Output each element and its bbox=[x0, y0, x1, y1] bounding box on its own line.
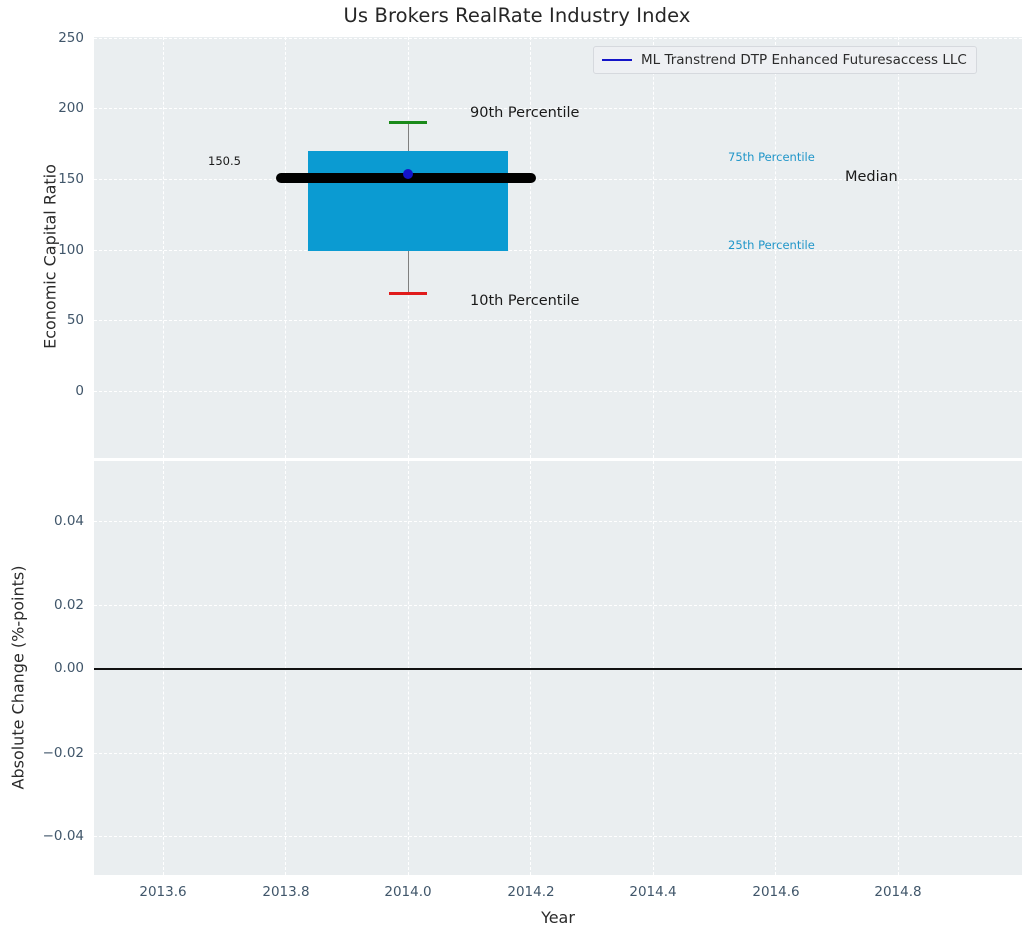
xtick-label-2013-6: 2013.6 bbox=[139, 884, 186, 900]
chart-figure: Us Brokers RealRate Industry Index 90th bbox=[0, 0, 1034, 942]
annotation-90th-percentile: 90th Percentile bbox=[470, 105, 579, 121]
legend: ML Transtrend DTP Enhanced Futuresaccess… bbox=[593, 46, 977, 74]
gridline-x-2014-8 bbox=[898, 37, 899, 458]
gridline-y-neg0p04 bbox=[94, 836, 1022, 837]
x-axis-label: Year bbox=[94, 908, 1022, 927]
gridline-x-2013-8 bbox=[285, 37, 286, 458]
xtick-label-2014-4: 2014.4 bbox=[629, 884, 676, 900]
whisker-cap-90th bbox=[389, 121, 427, 124]
top-plot-panel: 90th Percentile 75th Percentile Median 2… bbox=[94, 37, 1022, 458]
legend-line-swatch-icon bbox=[602, 59, 632, 61]
gridline-y-0p02 bbox=[94, 605, 1022, 606]
iqr-box bbox=[308, 151, 508, 251]
gridline-y-neg0p02 bbox=[94, 753, 1022, 754]
gridline-x-2014-2 bbox=[530, 37, 531, 458]
gridline-y-100 bbox=[94, 250, 1022, 251]
bottom-plot-panel bbox=[94, 461, 1022, 875]
annotation-25th-percentile: 25th Percentile bbox=[728, 238, 815, 252]
zero-reference-line bbox=[94, 668, 1022, 670]
xtick-label-2014-2: 2014.2 bbox=[507, 884, 554, 900]
page-title: Us Brokers RealRate Industry Index bbox=[0, 4, 1034, 27]
y-axis-label-top: Economic Capital Ratio bbox=[41, 57, 60, 457]
xtick-label-2014-6: 2014.6 bbox=[752, 884, 799, 900]
whisker-cap-10th bbox=[389, 292, 427, 295]
gridline-y-0p04 bbox=[94, 521, 1022, 522]
xtick-label-2014-8: 2014.8 bbox=[874, 884, 921, 900]
median-value-label: 150.5 bbox=[208, 154, 241, 168]
legend-entry-label: ML Transtrend DTP Enhanced Futuresaccess… bbox=[641, 52, 967, 68]
annotation-75th-percentile: 75th Percentile bbox=[728, 150, 815, 164]
gridline-y-250 bbox=[94, 38, 1022, 39]
gridline-x-2014-4 bbox=[653, 37, 654, 458]
annotation-median: Median bbox=[845, 169, 898, 185]
xtick-label-2014-0: 2014.0 bbox=[384, 884, 431, 900]
company-value-marker bbox=[403, 169, 413, 179]
y-axis-label-bottom: Absolute Change (%-points) bbox=[9, 478, 28, 878]
gridline-y-0 bbox=[94, 391, 1022, 392]
xtick-label-2013-8: 2013.8 bbox=[262, 884, 309, 900]
gridline-y-50 bbox=[94, 320, 1022, 321]
ytick-label-250: 250 bbox=[0, 30, 84, 46]
annotation-10th-percentile: 10th Percentile bbox=[470, 293, 579, 309]
gridline-x-2013-6 bbox=[163, 37, 164, 458]
